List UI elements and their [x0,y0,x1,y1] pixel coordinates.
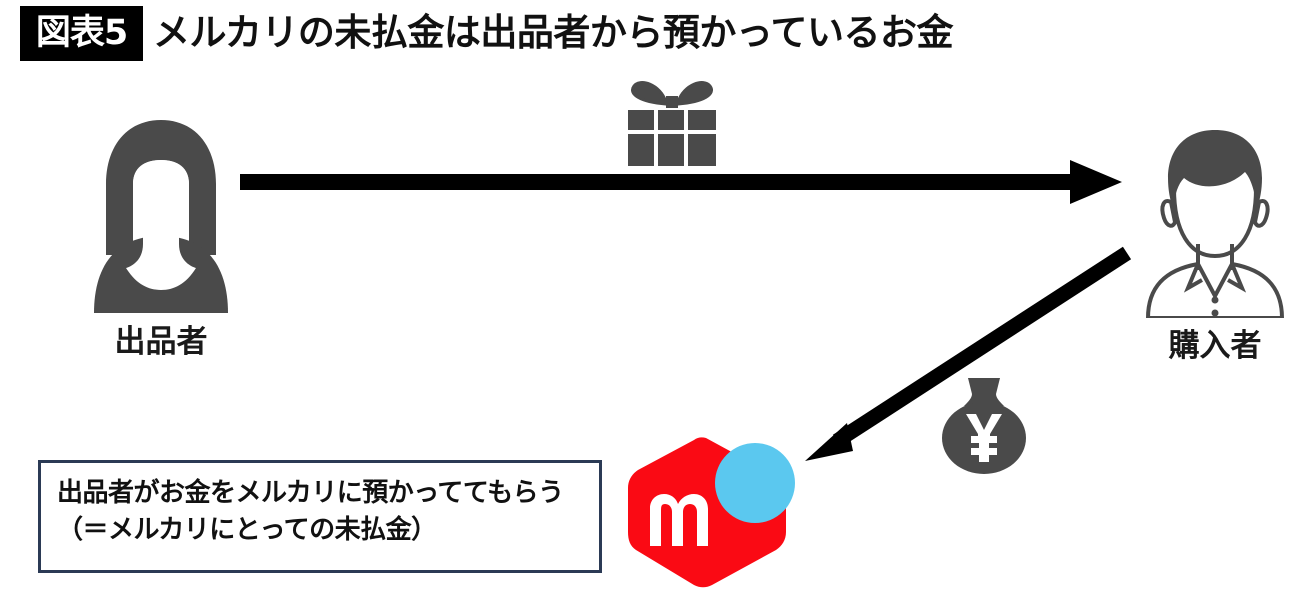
caption-line-1: 出品者がお金をメルカリに預かっててもらう [57,475,597,512]
buyer-figure [1140,128,1290,318]
male-person-icon [1140,128,1290,318]
caption-line-2: （＝メルカリにとっての未払金） [57,512,597,549]
page-title: メルカリの未払金は出品者から預かっているお金 [153,7,953,59]
mercari-logo [626,436,798,588]
figure-number-badge: 図表5 [20,6,143,61]
seller-figure [86,118,236,313]
figure-header: 図表5 メルカリの未払金は出品者から預かっているお金 [0,0,1296,68]
caption-box: 出品者がお金をメルカリに預かっててもらう （＝メルカリにとっての未払金） [38,460,602,573]
buyer-label: 購入者 [1140,320,1290,365]
mercari-hexagon-logo [626,436,798,588]
arrow-right-icon [240,150,1130,220]
goods-flow-arrow [240,150,1130,220]
money-bag-icon [938,374,1030,474]
money-bag-yen-glyph [938,374,1030,474]
female-person-icon [86,118,236,313]
seller-label: 出品者 [86,316,236,361]
caption-text: 出品者がお金をメルカリに預かっててもらう （＝メルカリにとっての未払金） [57,475,597,549]
